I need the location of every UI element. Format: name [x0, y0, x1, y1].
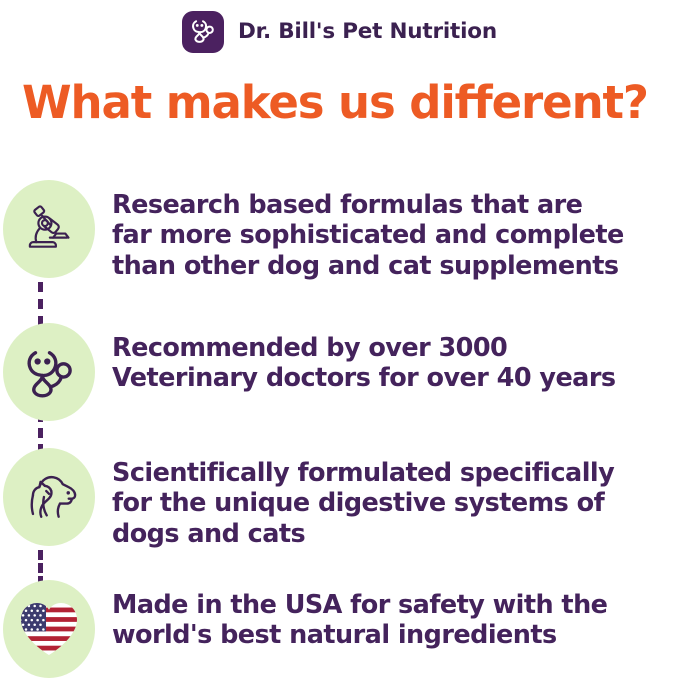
icon-circle [3, 448, 95, 546]
feature-list: Research based formulas that are far mor… [0, 180, 679, 680]
feature-icon-wrapper [0, 448, 112, 546]
feature-text: Research based formulas that are far mor… [112, 180, 679, 281]
feature-item: Recommended by over 3000 Veterinary doct… [0, 323, 679, 428]
feature-text: Recommended by over 3000 Veterinary doct… [112, 323, 679, 394]
feature-text: Scientifically formulated specifically f… [112, 448, 679, 549]
brand-header: Dr. Bill's Pet Nutrition [0, 8, 679, 56]
stethoscope-dog-face-icon [188, 15, 218, 50]
feature-icon-wrapper [0, 323, 112, 421]
feature-icon-wrapper [0, 180, 112, 278]
dog-and-cat-icon [16, 467, 82, 527]
microscope-icon [20, 200, 78, 258]
icon-circle [3, 323, 95, 421]
usa-flag-heart-icon [17, 598, 81, 660]
icon-circle [3, 180, 95, 278]
feature-text: Made in the USA for safety with the worl… [112, 580, 679, 651]
brand-name: Dr. Bill's Pet Nutrition [238, 21, 497, 43]
feature-item: Scientifically formulated specifically f… [0, 448, 679, 568]
stethoscope-icon [19, 342, 79, 402]
feature-icon-wrapper [0, 580, 112, 678]
icon-circle [3, 580, 95, 678]
feature-item: Research based formulas that are far mor… [0, 180, 679, 300]
feature-item: Made in the USA for safety with the worl… [0, 580, 679, 685]
page-title: What makes us different? [22, 79, 662, 126]
brand-logo [182, 11, 224, 53]
